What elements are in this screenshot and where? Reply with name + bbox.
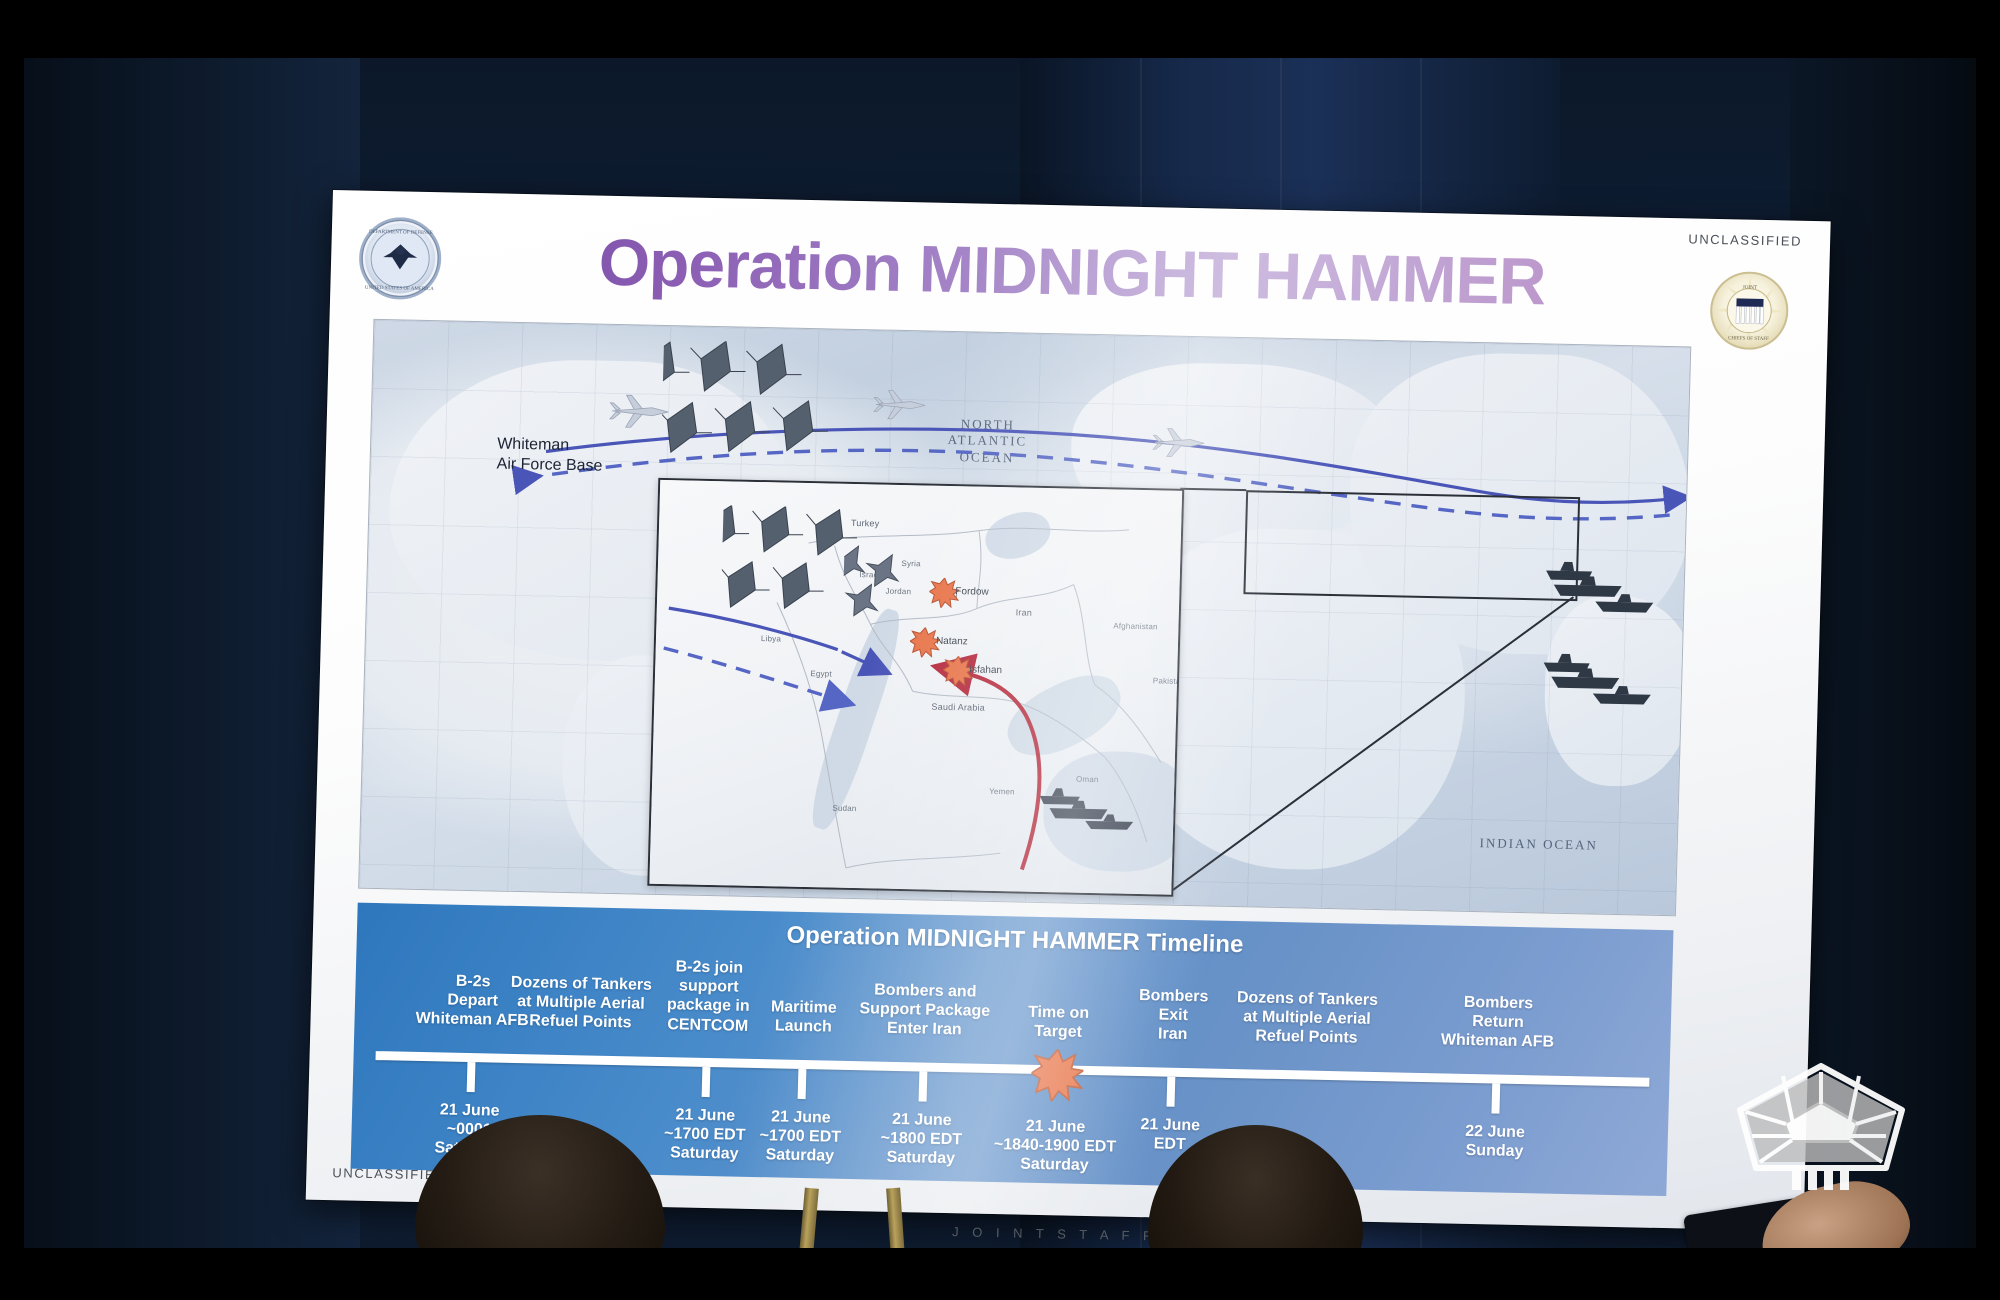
svg-text:JOINT: JOINT [1743, 285, 1758, 291]
letterbox-top [0, 0, 2000, 58]
timeline-event-label: BombersReturnWhiteman AFB [1397, 991, 1599, 1053]
centcom-inset-map: Turkey Syria Iraq Iran Saudi Arabia Egyp… [647, 478, 1184, 897]
whiteman-afb-label: Whiteman Air Force Base [496, 434, 603, 477]
page-title-part2: MIDNIGHT HAMMER [918, 231, 1546, 318]
tanker-aircraft-icon [1151, 424, 1210, 461]
label-afghanistan: Afghanistan [1108, 621, 1162, 631]
label-sudan: Sudan [827, 803, 861, 813]
label-yemen: Yemen [986, 787, 1018, 797]
joint-chiefs-of-staff-seal-icon: JOINT CHIEFS OF STAFF [1709, 271, 1789, 351]
target-natanz: Natanz [909, 627, 940, 663]
svg-text:UNITED STATES OF AMERICA: UNITED STATES OF AMERICA [365, 286, 434, 292]
timeline-event-date-line: Sunday [1394, 1140, 1594, 1163]
timeline-axis [375, 1051, 1649, 1087]
naval-strike-group-icon-south [1540, 650, 1662, 716]
timeline-tick [797, 1069, 806, 1099]
target-isfahan: Isfahan [943, 656, 974, 692]
timeline-tick [1167, 1077, 1176, 1107]
timeline-event-label-line: Whiteman AFB [1397, 1030, 1597, 1053]
svg-text:CHIEFS OF STAFF: CHIEFS OF STAFF [1728, 336, 1769, 342]
svg-text:DEPARTMENT OF DEFENSE: DEPARTMENT OF DEFENSE [369, 230, 433, 236]
label-iran: Iran [1009, 607, 1039, 618]
timeline-tick [1492, 1083, 1501, 1113]
label-syria: Syria [894, 559, 928, 569]
timeline-tick [702, 1067, 711, 1097]
classification-marking-top: UNCLASSIFIED [1688, 231, 1802, 248]
timeline-event-date-line: Saturday [954, 1154, 1154, 1177]
whiteman-afb-label-line2: Air Force Base [496, 455, 602, 478]
label-turkey: Turkey [845, 518, 885, 529]
label-oman: Oman [1072, 775, 1102, 785]
letterbox-right [1976, 0, 2000, 1300]
escort-fighter-icon-group [843, 540, 935, 622]
page-title-part1: Operation [598, 225, 920, 306]
label-jordan: Jordan [881, 587, 915, 597]
target-fordow-label: Fordow [955, 586, 989, 598]
time-on-target-burst-icon [1030, 1049, 1083, 1102]
operation-map: NORTH ATLANTIC OCEAN INDIAN OCEAN [358, 319, 1691, 916]
tanker-aircraft-icon [872, 386, 931, 423]
timeline-event-label-line: Refuel Points [1206, 1026, 1406, 1049]
inset-region-box [1243, 490, 1580, 601]
target-fordow: Fordow [929, 578, 960, 614]
target-isfahan-label: Isfahan [969, 664, 1002, 676]
briefing-poster-board: UNCLASSIFIED UNCLASSIFIED J O I N T S T … [306, 190, 1831, 1231]
label-saudi-arabia: Saudi Arabia [928, 702, 988, 714]
timeline-tick [918, 1071, 927, 1101]
department-of-defense-seal-icon: DEPARTMENT OF DEFENSE UNITED STATES OF A… [358, 217, 442, 301]
b2-bomber-icon-group-upper [661, 340, 864, 474]
label-egypt: Egypt [803, 669, 839, 679]
timeline-title: Operation MIDNIGHT HAMMER Timeline [357, 913, 1673, 969]
naval-strike-group-icon-north [1543, 558, 1665, 624]
whiteman-afb-label-line1: Whiteman [497, 434, 603, 457]
letterbox-left [0, 0, 24, 1300]
curtain-left [0, 0, 360, 1300]
timeline-tick [466, 1062, 475, 1092]
naval-strike-group-icon-inset [1037, 780, 1148, 834]
page-title: Operation MIDNIGHT HAMMER [506, 222, 1638, 322]
target-natanz-label: Natanz [936, 636, 968, 648]
letterbox-bottom [0, 1248, 2000, 1300]
screenshot-root: UNCLASSIFIED UNCLASSIFIED J O I N T S T … [0, 0, 2000, 1300]
label-israel: Israel [854, 570, 886, 580]
timeline-event-date: 22 JuneSunday [1394, 1120, 1595, 1163]
timeline-event-label: Dozens of Tankersat Multiple AerialRefue… [1206, 987, 1408, 1049]
label-pakistan: Pakistan [1147, 676, 1184, 686]
label-libya: Libya [756, 634, 786, 644]
pentagon-channel-logo-icon [1726, 1052, 1916, 1192]
